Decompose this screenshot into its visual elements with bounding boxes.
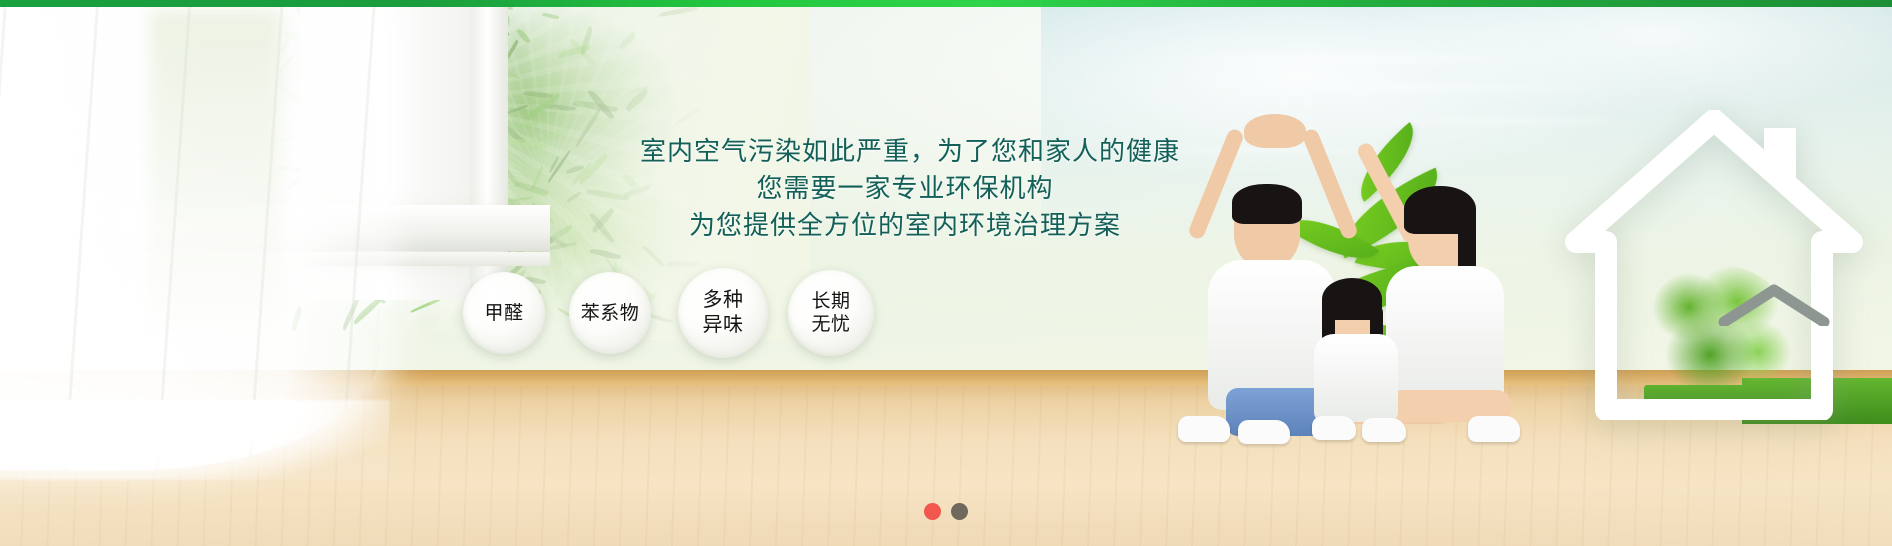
badge-formaldehyde[interactable]: 甲醛 [463,272,545,354]
house-outline-icon [1564,110,1864,420]
curtain-hem [0,400,390,480]
promo-banner: 室内空气污染如此严重，为了您和家人的健康 您需要一家专业环保机构 为您提供全方位… [0,0,1892,546]
family-photo [1172,120,1592,450]
top-accent-bar [0,0,1892,7]
carousel-dot-1[interactable] [924,503,941,520]
badge-multiple-odors-line-2: 异味 [703,313,744,338]
carousel-dots [0,503,1892,520]
badge-formaldehyde-line-1: 甲醛 [484,302,523,325]
badge-long-term-worry-free[interactable]: 长期 无忧 [788,270,874,356]
headline-line-2: 您需要一家专业环保机构 [640,170,1170,207]
carousel-dot-2[interactable] [951,503,968,520]
badge-benzene-series[interactable]: 苯系物 [569,272,651,354]
badge-benzene-series-line-1: 苯系物 [581,302,640,325]
badge-multiple-odors-line-1: 多种 [703,288,744,313]
badge-multiple-odors[interactable]: 多种 异味 [678,268,768,358]
headline-line-1: 室内空气污染如此严重，为了您和家人的健康 [640,133,1170,170]
headline-line-3: 为您提供全方位的室内环境治理方案 [640,207,1170,244]
headline: 室内空气污染如此严重，为了您和家人的健康 您需要一家专业环保机构 为您提供全方位… [640,133,1170,244]
chevron-decoration [1718,282,1830,326]
badge-long-term-worry-free-line-2: 无忧 [811,313,850,336]
badge-long-term-worry-free-line-1: 长期 [811,290,850,313]
